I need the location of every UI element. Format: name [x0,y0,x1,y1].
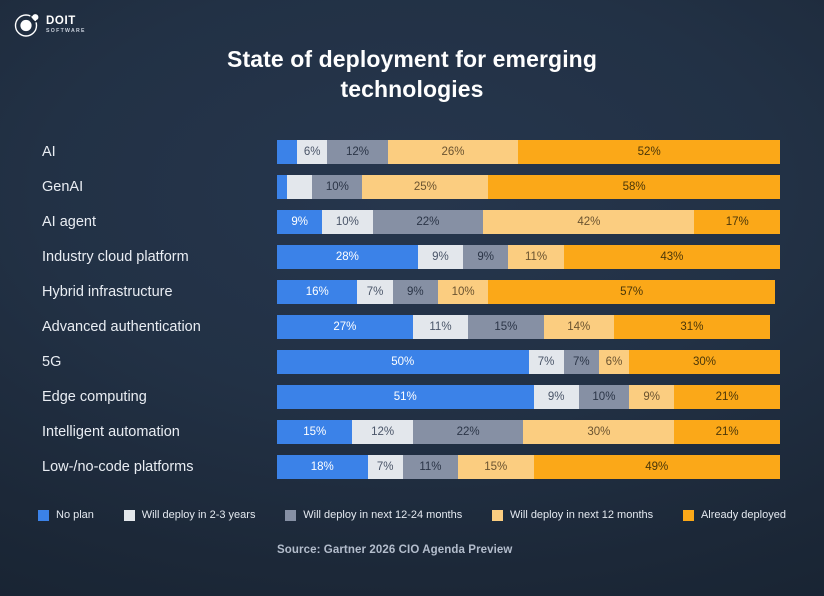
bar-segment: 9% [463,245,508,269]
legend-item: Will deploy in 2-3 years [124,509,256,521]
bar-segment: 15% [277,420,352,444]
bar-segment: 12% [327,140,387,164]
bar-segment: 7% [529,350,564,374]
bar-segment: 51% [277,385,534,409]
bar-segment: 10% [322,210,372,234]
page-title: State of deployment for emerging technol… [0,44,824,105]
chart-row: AI agent9%10%22%42%17% [0,210,824,245]
legend-label: Will deploy in next 12 months [510,509,653,521]
stacked-bar: 16%7%9%10%57% [277,280,780,304]
bar-segment: 9% [629,385,674,409]
category-label: Intelligent automation [42,420,180,444]
category-label: GenAI [42,175,83,199]
category-label: Low-/no-code platforms [42,455,194,479]
bar-segment: 12% [352,420,412,444]
stacked-bar: 50%7%7%6%30% [277,350,780,374]
bar-segment: 50% [277,350,529,374]
brand-name: DOIT [46,16,86,28]
bar-segment: 9% [277,210,322,234]
bar-segment: 7% [357,280,392,304]
legend-item: Already deployed [683,509,786,521]
stacked-bar: 28%9%9%11%43% [277,245,780,269]
bar-segment: 6% [297,140,327,164]
bar-segment: 18% [277,455,368,479]
legend-swatch [38,510,49,521]
chart-row: Intelligent automation15%12%22%30%21% [0,420,824,455]
bar-segment: 6% [599,350,629,374]
bar-segment: 52% [518,140,780,164]
bar-segment: 11% [403,455,458,479]
bar-segment: 15% [458,455,533,479]
category-label: Hybrid infrastructure [42,280,173,304]
stacked-bar: 6%12%26%52% [277,140,780,164]
category-label: AI [42,140,56,164]
bar-segment: 10% [312,175,362,199]
chart-row: Low-/no-code platforms18%7%11%15%49% [0,455,824,490]
bar-segment: 49% [534,455,780,479]
circle-dot-icon [14,12,40,38]
bar-segment: 22% [413,420,524,444]
stacked-bar: 15%12%22%30%21% [277,420,780,444]
category-label: AI agent [42,210,96,234]
legend-item: No plan [38,509,94,521]
legend-swatch [683,510,694,521]
category-label: Industry cloud platform [42,245,189,269]
bar-segment: 22% [373,210,484,234]
bar-segment: 31% [614,315,770,339]
bar-segment: 27% [277,315,413,339]
source-note: Source: Gartner 2026 CIO Agenda Preview [277,544,512,556]
bar-segment: 9% [534,385,579,409]
bar-segment: 11% [413,315,468,339]
brand-tagline: SOFTWARE [46,29,86,34]
bar-segment: 43% [564,245,780,269]
stacked-bar: 18%7%11%15%49% [277,455,780,479]
bar-segment: 7% [368,455,403,479]
bar-segment: 15% [468,315,543,339]
bar-segment: 30% [629,350,780,374]
legend-label: Will deploy in next 12-24 months [303,509,462,521]
bar-segment: 21% [674,385,780,409]
chart-row: Industry cloud platform28%9%9%11%43% [0,245,824,280]
legend-label: Will deploy in 2-3 years [142,509,256,521]
bar-segment: 9% [418,245,463,269]
bar-segment [277,175,287,199]
bar-segment: 26% [388,140,519,164]
stacked-bar: 10%25%58% [277,175,780,199]
bar-segment: 16% [277,280,357,304]
bar-segment: 28% [277,245,418,269]
bar-segment: 9% [393,280,438,304]
legend-label: No plan [56,509,94,521]
chart-legend: No planWill deploy in 2-3 yearsWill depl… [38,509,786,521]
category-label: Edge computing [42,385,147,409]
chart-row: Edge computing51%9%10%9%21% [0,385,824,420]
bar-segment: 11% [508,245,563,269]
bar-segment: 58% [488,175,780,199]
chart-row: Advanced authentication27%11%15%14%31% [0,315,824,350]
chart-row: 5G50%7%7%6%30% [0,350,824,385]
legend-label: Already deployed [701,509,786,521]
chart-row: Hybrid infrastructure16%7%9%10%57% [0,280,824,315]
bar-segment: 30% [523,420,674,444]
bar-segment: 42% [483,210,694,234]
bar-segment: 10% [438,280,488,304]
category-label: Advanced authentication [42,315,201,339]
bar-segment: 7% [564,350,599,374]
bar-segment: 25% [362,175,488,199]
legend-item: Will deploy in next 12 months [492,509,653,521]
bar-segment [277,140,297,164]
brand-logo: DOIT SOFTWARE [14,12,86,38]
chart-row: AI6%12%26%52% [0,140,824,175]
stacked-bar-chart: AI6%12%26%52%GenAI10%25%58%AI agent9%10%… [0,140,824,490]
stacked-bar: 9%10%22%42%17% [277,210,780,234]
bar-segment: 57% [488,280,775,304]
stacked-bar: 51%9%10%9%21% [277,385,780,409]
chart-row: GenAI10%25%58% [0,175,824,210]
legend-swatch [285,510,296,521]
category-label: 5G [42,350,61,374]
bar-segment: 10% [579,385,629,409]
bar-segment: 21% [674,420,780,444]
bar-segment: 14% [544,315,614,339]
legend-swatch [124,510,135,521]
stacked-bar: 27%11%15%14%31% [277,315,780,339]
legend-item: Will deploy in next 12-24 months [285,509,462,521]
legend-swatch [492,510,503,521]
bar-segment [287,175,312,199]
bar-segment: 17% [694,210,780,234]
